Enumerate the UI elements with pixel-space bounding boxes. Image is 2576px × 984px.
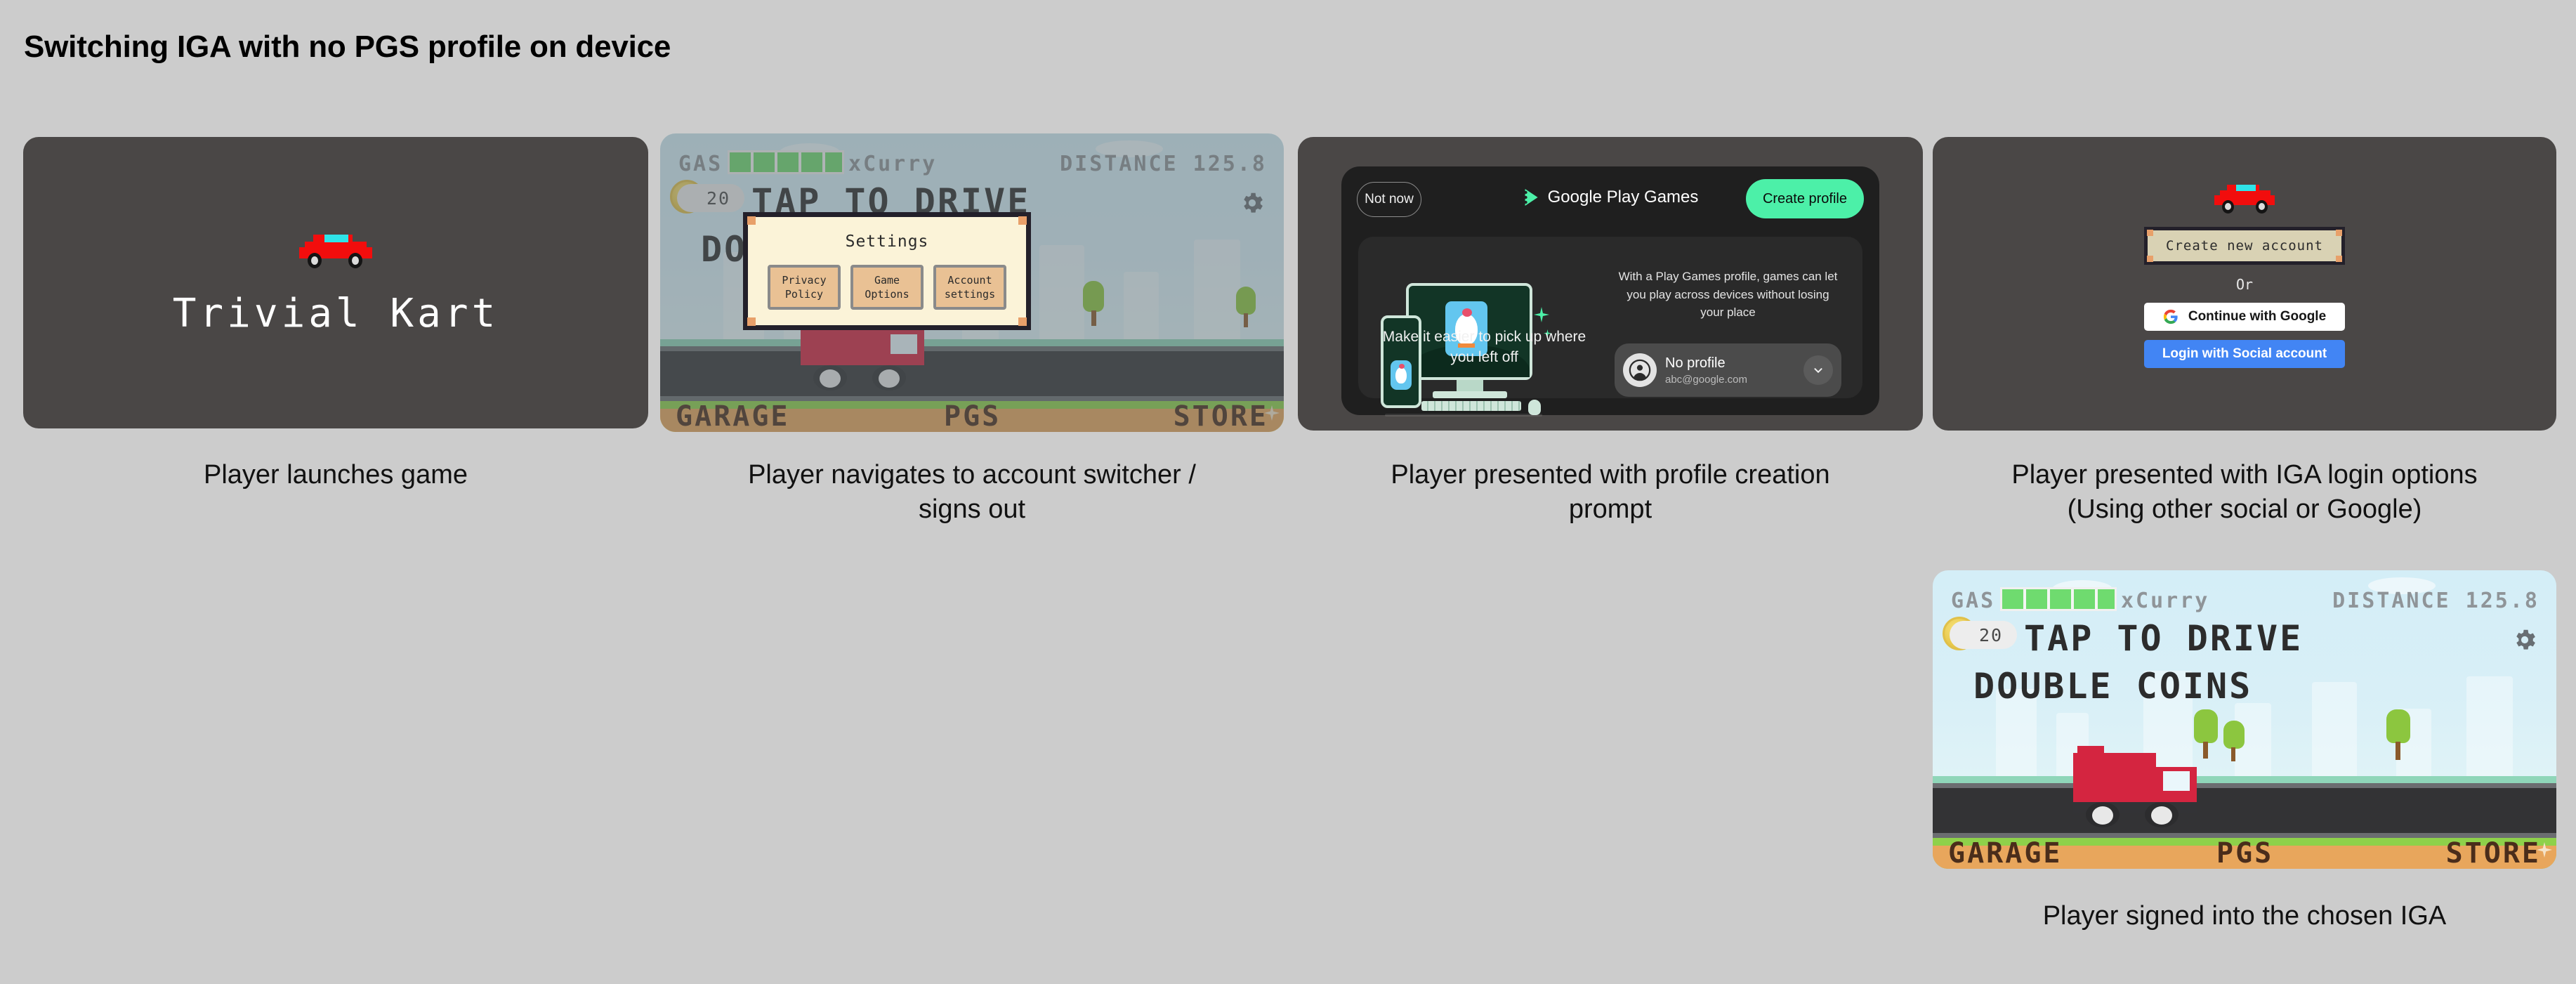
pgs-text-column: With a Play Games profile, games can let… bbox=[1610, 237, 1862, 398]
panel-game-splash: Trivial Kart bbox=[23, 137, 648, 428]
keyboard-icon bbox=[1421, 401, 1521, 411]
gear-icon[interactable] bbox=[2511, 627, 2538, 653]
google-g-icon bbox=[2163, 309, 2179, 324]
settings-dialog-title: Settings bbox=[748, 232, 1026, 251]
create-new-account-button[interactable]: Create new account bbox=[2144, 227, 2345, 265]
pgs-illustration-column: Make it easier to pick up where you left… bbox=[1358, 237, 1610, 398]
splash-game-title: Trivial Kart bbox=[173, 291, 499, 336]
tree-icon bbox=[2385, 709, 2412, 760]
account-settings-button[interactable]: Account settings bbox=[933, 265, 1006, 310]
profile-selector[interactable]: No profile abc@google.com bbox=[1615, 343, 1841, 397]
player-truck bbox=[2070, 743, 2202, 830]
game-options-button[interactable]: Game Options bbox=[850, 265, 924, 310]
sparkle-icon bbox=[1534, 307, 1549, 322]
illustration-caption: Make it easier to pick up where you left… bbox=[1371, 327, 1598, 367]
tree-icon bbox=[2222, 721, 2246, 761]
game-scene-dimmed: GAS xCurry DISTANCE 125.8 20 TAP TO DRIV… bbox=[660, 133, 1284, 432]
gas-meter bbox=[2000, 587, 2117, 611]
nav-pgs[interactable]: PGS bbox=[2216, 837, 2273, 869]
create-profile-button[interactable]: Create profile bbox=[1746, 179, 1864, 218]
continue-with-google-label: Continue with Google bbox=[2188, 309, 2326, 324]
tap-to-drive-line1: TAP TO DRIVE bbox=[2024, 618, 2303, 659]
play-games-triangle-icon bbox=[1523, 188, 1541, 207]
distance-readout: DISTANCE 125.8 bbox=[2332, 589, 2539, 613]
settings-dialog: Settings Privacy Policy Game Options Acc… bbox=[743, 212, 1031, 330]
panel-pgs-profile-prompt: Not now Google Play Games Create profile bbox=[1298, 137, 1923, 431]
chevron-down-icon[interactable] bbox=[1803, 355, 1833, 385]
pgs-body: Make it easier to pick up where you left… bbox=[1358, 237, 1862, 398]
caption-step-2: Player navigates to account switcher / s… bbox=[660, 458, 1284, 526]
slide-canvas: Switching IGA with no PGS profile on dev… bbox=[0, 0, 2576, 984]
create-new-account-label: Create new account bbox=[2166, 238, 2323, 254]
page-title: Switching IGA with no PGS profile on dev… bbox=[24, 29, 671, 65]
caption-step-4: Player presented with IGA login options … bbox=[1933, 458, 2556, 526]
or-divider-label: Or bbox=[2236, 276, 2253, 293]
panel-game-signed-in: GAS xCurry DISTANCE 125.8 20 TAP TO DRIV… bbox=[1933, 570, 2556, 869]
player-username: xCurry bbox=[2121, 589, 2209, 613]
panel-iga-login: Create new account Or Continue with Goog… bbox=[1933, 137, 2556, 431]
pgs-description: With a Play Games profile, games can let… bbox=[1617, 268, 1839, 322]
profile-name: No profile bbox=[1665, 355, 1803, 372]
bottom-nav: GARAGE PGS STORE bbox=[1933, 838, 2556, 869]
gas-label: GAS bbox=[1951, 589, 1995, 613]
coin-count: 20 bbox=[1950, 621, 2017, 649]
splash-content: Trivial Kart bbox=[23, 137, 648, 428]
login-with-social-button[interactable]: Login with Social account bbox=[2144, 340, 2345, 368]
pgs-brand: Google Play Games bbox=[1523, 188, 1699, 207]
road bbox=[1933, 783, 2556, 839]
iga-login-content: Create new account Or Continue with Goog… bbox=[1933, 137, 2556, 431]
profile-text: No profile abc@google.com bbox=[1665, 355, 1803, 386]
tap-to-drive-line2: DOUBLE COINS bbox=[1973, 666, 2252, 707]
caption-step-3: Player presented with profile creation p… bbox=[1298, 458, 1923, 526]
continue-with-google-button[interactable]: Continue with Google bbox=[2144, 303, 2345, 331]
account-circle-icon bbox=[1623, 353, 1657, 387]
settings-dialog-buttons: Privacy Policy Game Options Account sett… bbox=[748, 265, 1026, 310]
panel-account-switcher: GAS xCurry DISTANCE 125.8 20 TAP TO DRIV… bbox=[660, 133, 1284, 432]
mouse-icon bbox=[1528, 400, 1541, 415]
pgs-header: Not now Google Play Games Create profile bbox=[1341, 166, 1879, 234]
game-scene: GAS xCurry DISTANCE 125.8 20 TAP TO DRIV… bbox=[1933, 570, 2556, 869]
nav-garage[interactable]: GARAGE bbox=[1948, 837, 2063, 869]
not-now-button[interactable]: Not now bbox=[1357, 182, 1421, 217]
horizon-grass bbox=[1933, 776, 2556, 782]
pgs-brand-label: Google Play Games bbox=[1548, 188, 1699, 207]
pixel-red-car-icon bbox=[294, 229, 378, 273]
profile-email: abc@google.com bbox=[1665, 374, 1803, 386]
nav-store[interactable]: STORE bbox=[2446, 837, 2541, 869]
pgs-card: Not now Google Play Games Create profile bbox=[1341, 166, 1879, 415]
caption-step-1: Player launches game bbox=[23, 458, 648, 492]
caption-step-5: Player signed into the chosen IGA bbox=[1933, 899, 2556, 933]
privacy-policy-button[interactable]: Privacy Policy bbox=[768, 265, 841, 310]
pixel-red-car-icon bbox=[2210, 181, 2279, 217]
